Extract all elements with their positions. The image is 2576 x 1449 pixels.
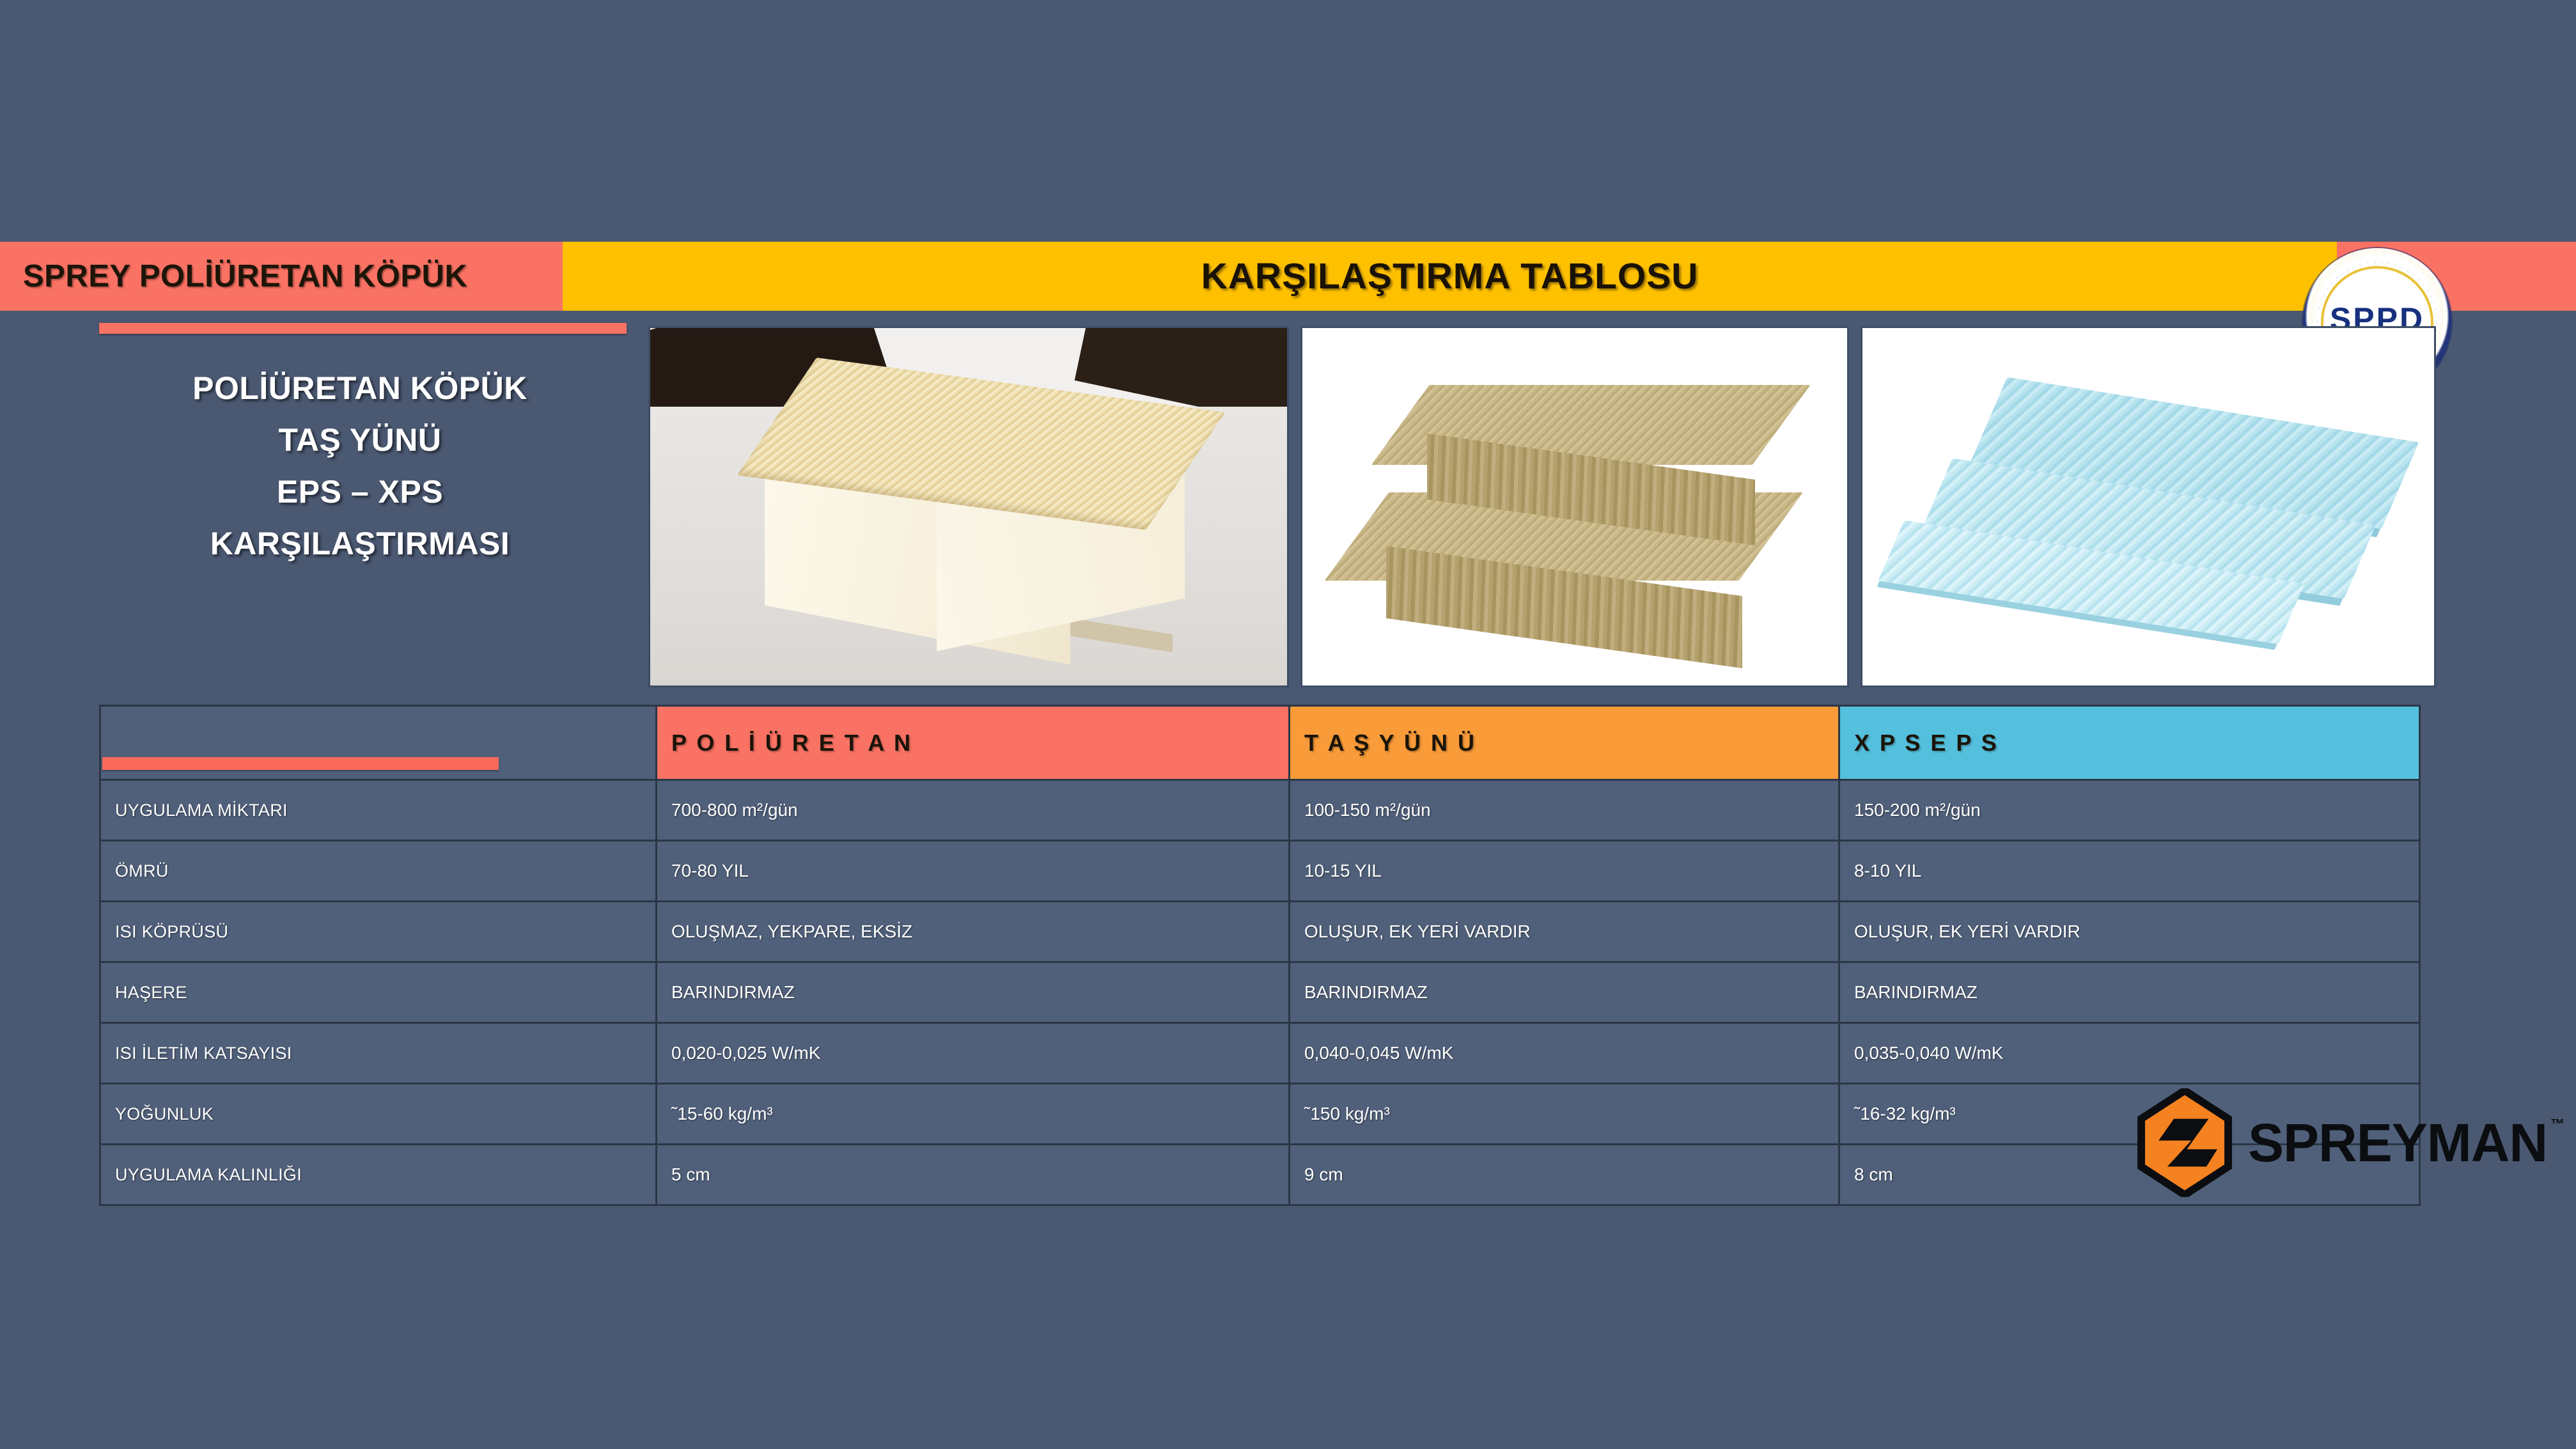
cell-poliuretan: ˜15-60 kg/m³ [657,1084,1290,1145]
cell-xps-eps: 0,035-0,040 W/mK [1839,1023,2420,1084]
header-cell-blank [100,706,657,780]
page-title: KARŞILAŞTIRMA TABLOSU [1201,255,1699,297]
cell-tasyunu: 10-15 YIL [1290,841,1839,902]
photo-polyurethane-foam [648,326,1289,687]
row-label: ISI İLETİM KATSAYISI [100,1023,657,1084]
photo-rock-wool [1300,326,1849,687]
cell-tasyunu: ˜150 kg/m³ [1290,1084,1839,1145]
cell-poliuretan: OLUŞMAZ, YEKPARE, EKSİZ [657,902,1290,962]
row-label: ÖMRÜ [100,841,657,902]
header-accent-rule [102,757,499,770]
headline-rule [99,323,627,334]
cell-xps-eps: BARINDIRMAZ [1839,962,2420,1023]
cell-poliuretan: 0,020-0,025 W/mK [657,1023,1290,1084]
cell-xps-eps: OLUŞUR, EK YERİ VARDIR [1839,902,2420,962]
cell-xps-eps: 8-10 YIL [1839,841,2420,902]
spreyman-name: SPREYMAN [2248,1113,2547,1173]
pu-foam-image [650,328,1287,685]
spreyman-s-mark-icon [2130,1088,2239,1197]
table-row: UYGULAMA MİKTARI 700-800 m²/gün 100-150 … [100,780,2420,841]
table-row: YOĞUNLUK ˜15-60 kg/m³ ˜150 kg/m³ ˜16-32 … [100,1084,2420,1145]
cell-tasyunu: OLUŞUR, EK YERİ VARDIR [1290,902,1839,962]
headline-lines: POLİÜRETAN KÖPÜK TAŞ YÜNÜ EPS – XPS KARŞ… [91,363,628,570]
title-banner: SPREY POLİÜRETAN KÖPÜK KARŞILAŞTIRMA TAB… [0,242,2576,311]
cell-tasyunu: 100-150 m²/gün [1290,780,1839,841]
header-cell-tasyunu: T A Ş Y Ü N Ü [1290,706,1839,780]
table-header-row: P O L İ Ü R E T A N T A Ş Y Ü N Ü X P S … [100,706,2420,780]
banner-left-label: SPREY POLİÜRETAN KÖPÜK [0,258,467,294]
table-row: ISI İLETİM KATSAYISI 0,020-0,025 W/mK 0,… [100,1023,2420,1084]
headline-line-1: POLİÜRETAN KÖPÜK [91,363,628,414]
cell-tasyunu: BARINDIRMAZ [1290,962,1839,1023]
header-label-tasyunu: T A Ş Y Ü N Ü [1290,730,1838,756]
rw-slab-top [1400,385,1781,528]
headline-line-2: TAŞ YÜNÜ [91,414,628,466]
spreyman-logo: SPREYMAN ™ [2130,1088,2547,1197]
table-row: ÖMRÜ 70-80 YIL 10-15 YIL 8-10 YIL [100,841,2420,902]
headline-line-4: KARŞILAŞTIRMASI [91,518,628,570]
rock-wool-image [1302,328,1847,685]
table-row: ISI KÖPRÜSÜ OLUŞMAZ, YEKPARE, EKSİZ OLUŞ… [100,902,2420,962]
banner-center-panel: KARŞILAŞTIRMA TABLOSU [563,242,2337,311]
cell-poliuretan: 700-800 m²/gün [657,780,1290,841]
row-label: UYGULAMA MİKTARI [100,780,657,841]
headline-line-3: EPS – XPS [91,466,628,518]
header-label-xps-eps: X P S E P S [1840,730,2419,756]
cell-poliuretan: BARINDIRMAZ [657,962,1290,1023]
photo-xps-boards [1861,326,2436,687]
header-cell-poliuretan: P O L İ Ü R E T A N [657,706,1290,780]
header-label-poliuretan: P O L İ Ü R E T A N [657,730,1288,756]
spreyman-wordmark: SPREYMAN ™ [2248,1116,2547,1170]
row-label: YOĞUNLUK [100,1084,657,1145]
cell-tasyunu: 9 cm [1290,1145,1839,1205]
row-label: HAŞERE [100,962,657,1023]
comparison-table: P O L İ Ü R E T A N T A Ş Y Ü N Ü X P S … [99,705,2421,1206]
header-cell-xps-eps: X P S E P S [1839,706,2420,780]
cell-xps-eps: 150-200 m²/gün [1839,780,2420,841]
banner-left-panel: SPREY POLİÜRETAN KÖPÜK [0,242,563,311]
cell-poliuretan: 5 cm [657,1145,1290,1205]
slide-canvas: SPREY POLİÜRETAN KÖPÜK KARŞILAŞTIRMA TAB… [0,0,2576,1449]
cell-poliuretan: 70-80 YIL [657,841,1290,902]
headline-block: POLİÜRETAN KÖPÜK TAŞ YÜNÜ EPS – XPS KARŞ… [91,323,628,570]
table-row: HAŞERE BARINDIRMAZ BARINDIRMAZ BARINDIRM… [100,962,2420,1023]
cell-tasyunu: 0,040-0,045 W/mK [1290,1023,1839,1084]
photo-strip [648,326,2436,687]
table-row: UYGULAMA KALINLIĞI 5 cm 9 cm 8 cm [100,1145,2420,1205]
row-label: ISI KÖPRÜSÜ [100,902,657,962]
trademark-symbol: ™ [2550,1117,2564,1131]
xps-image [1862,328,2434,685]
row-label: UYGULAMA KALINLIĞI [100,1145,657,1205]
